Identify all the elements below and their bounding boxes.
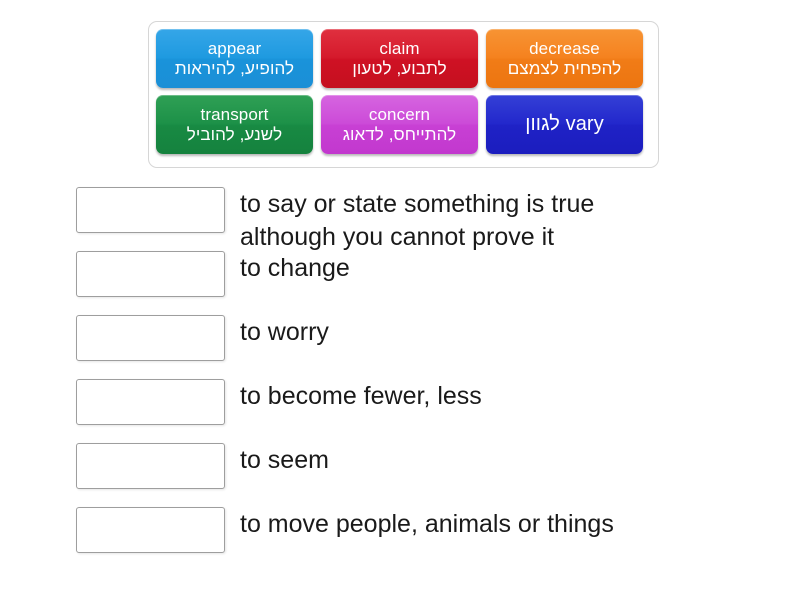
word-tile-english: claim [325,39,474,58]
word-tile-hebrew: להתייחס, לדאוג [325,125,474,144]
word-tile-tray: appear להופיע, להיראות claim לתבוע, לטעו… [148,21,659,168]
word-tile-hebrew: לשנע, להוביל [160,125,309,144]
answer-dropzone[interactable] [76,251,225,297]
word-tile-label: vary לגוון [490,113,639,135]
word-tile-hebrew: להופיע, להיראות [160,59,309,78]
definition-text: to move people, animals or things [240,507,776,541]
word-tile-concern[interactable]: concern להתייחס, לדאוג [321,95,478,154]
word-tile-transport[interactable]: transport לשנע, להוביל [156,95,313,154]
answer-dropzone[interactable] [76,379,225,425]
word-tile-hebrew: להפחית לצמצם [490,59,639,78]
answer-dropzone[interactable] [76,187,225,233]
match-row: to say or state something is true althou… [76,187,776,251]
word-tile-claim[interactable]: claim לתבוע, לטעון [321,29,478,88]
match-row: to worry [76,315,776,379]
definition-text: to seem [240,443,776,477]
match-row: to move people, animals or things [76,507,776,571]
definition-text: to worry [240,315,776,349]
match-row: to change [76,251,776,315]
word-tile-hebrew: לתבוע, לטעון [325,59,474,78]
match-row: to become fewer, less [76,379,776,443]
word-tile-english: transport [160,105,309,124]
match-up-activity: appear להופיע, להיראות claim לתבוע, לטעו… [0,0,800,600]
match-row: to seem [76,443,776,507]
word-tile-english: concern [325,105,474,124]
definition-text: to become fewer, less [240,379,776,413]
answer-dropzone[interactable] [76,315,225,361]
definition-text: to change [240,251,776,285]
answer-dropzone[interactable] [76,507,225,553]
word-tile-decrease[interactable]: decrease להפחית לצמצם [486,29,643,88]
word-tile-english: appear [160,39,309,58]
definition-rows: to say or state something is true althou… [76,187,776,571]
word-tile-english: decrease [490,39,639,58]
word-tile-appear[interactable]: appear להופיע, להיראות [156,29,313,88]
word-tile-vary[interactable]: vary לגוון [486,95,643,154]
definition-text: to say or state something is true althou… [240,187,776,254]
answer-dropzone[interactable] [76,443,225,489]
